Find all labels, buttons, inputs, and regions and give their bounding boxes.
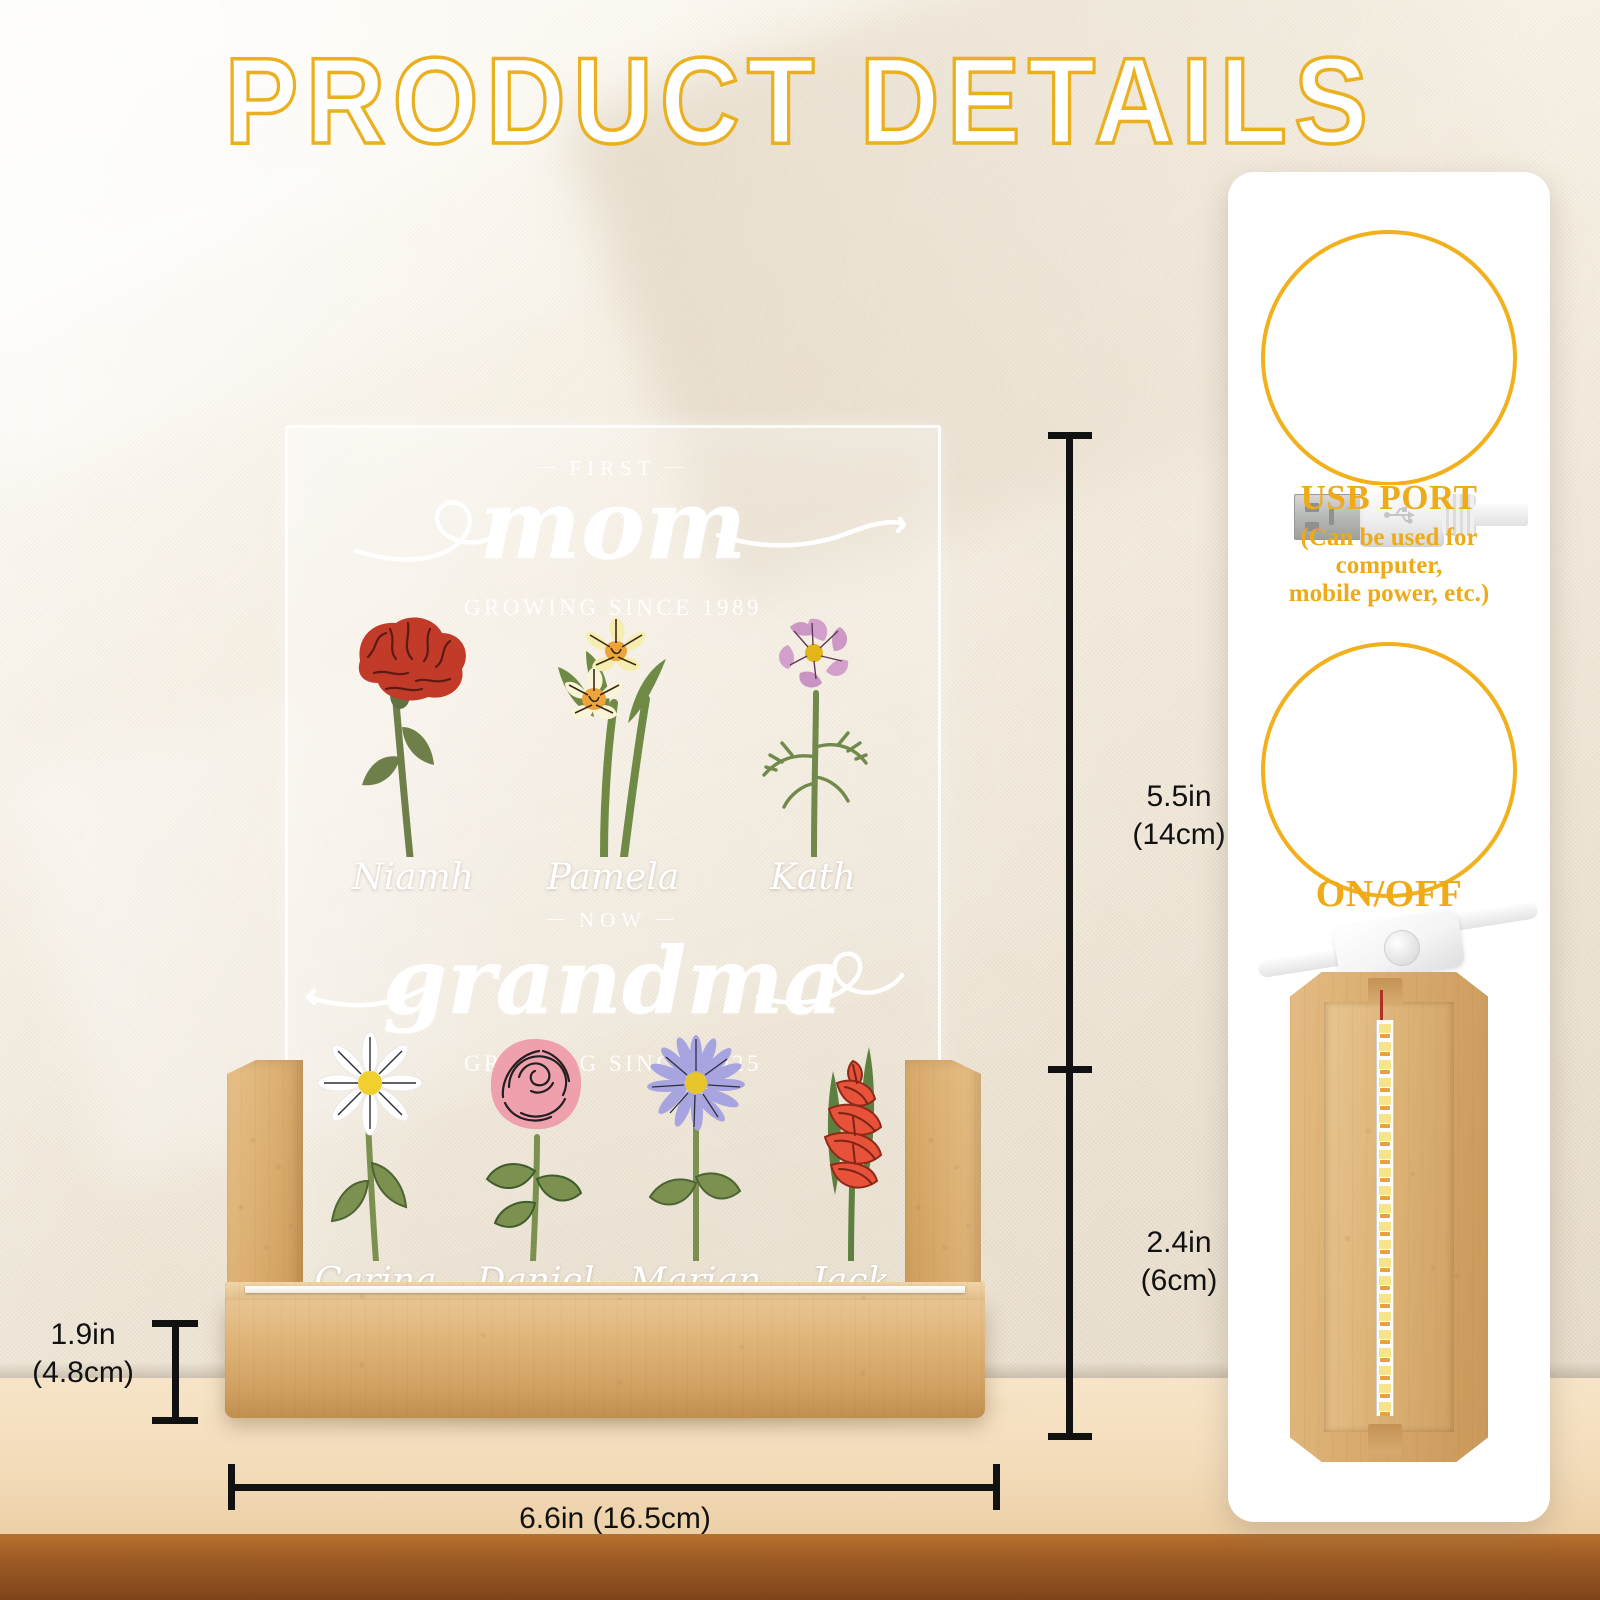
led-solder-pad (1380, 1070, 1390, 1074)
depth-inches: 1.9in (8, 1316, 158, 1354)
led-solder-pad (1380, 1232, 1390, 1236)
led-solder-pad (1380, 1358, 1390, 1362)
flower-item-daffodil: Pamela (528, 607, 698, 898)
wooden-base-led-strip-icon (1290, 972, 1488, 1462)
led-solder-pad (1380, 1412, 1390, 1416)
width-ruler-cap-right (993, 1464, 1000, 1510)
on-off-title: ON/OFF (1228, 872, 1550, 916)
led-solder-pad (1380, 1160, 1390, 1164)
led-base-notch-bottom (1368, 1424, 1402, 1454)
mom-headline-block: —FIRST— mom GROWING SINCE 1989 (288, 456, 938, 621)
led-diode (1379, 1240, 1391, 1249)
height-ruler-line (1066, 432, 1073, 1440)
aster-icon (626, 1031, 766, 1261)
usb-port-subtitle-line3: mobile power, etc.) (1228, 580, 1550, 608)
led-diode (1379, 1258, 1391, 1267)
stand-base (225, 1300, 985, 1418)
width-ruler-cap-left (228, 1464, 235, 1510)
led-power-wire (1380, 990, 1383, 1024)
acrylic-plaque: —FIRST— mom GROWING SINCE 1989 (285, 425, 941, 1361)
switch-circle-frame (1261, 642, 1517, 898)
bottom-flower-row: Carina (298, 1052, 928, 1302)
led-solder-pad (1380, 1124, 1390, 1128)
info-card: USB PORT (Can be used for computer, mobi… (1228, 172, 1550, 1522)
grandma-script-word: grandma (288, 935, 938, 1027)
led-diode (1379, 1114, 1391, 1123)
depth-ruler-cap-bottom (152, 1417, 198, 1424)
gladiolus-icon (781, 1031, 921, 1261)
led-solder-pad (1380, 1196, 1390, 1200)
led-strip (1376, 1020, 1394, 1416)
led-diode (1379, 1132, 1391, 1141)
led-diode (1379, 1366, 1391, 1375)
led-solder-pad (1380, 1106, 1390, 1110)
daisy-icon (306, 1031, 446, 1261)
wood-grain (225, 1300, 985, 1418)
mom-script-word: mom (288, 477, 938, 573)
depth-ruler-cap-top (152, 1320, 198, 1327)
led-diode (1379, 1312, 1391, 1321)
flower-name-label: Pamela (547, 857, 680, 898)
led-diode (1379, 1348, 1391, 1357)
height-ruler-cap-bottom (1048, 1433, 1092, 1440)
led-solder-pad (1380, 1250, 1390, 1254)
flower-item-carnation: Niamh (338, 607, 488, 898)
led-solder-pad (1380, 1052, 1390, 1056)
led-solder-pad (1380, 1142, 1390, 1146)
led-diode (1379, 1042, 1391, 1051)
usb-port-subtitle-line2: computer, (1228, 552, 1550, 580)
rose-icon (461, 1031, 611, 1261)
led-solder-pad (1380, 1268, 1390, 1272)
led-solder-pad (1380, 1376, 1390, 1380)
led-diode (1379, 1204, 1391, 1213)
led-solder-pad (1380, 1340, 1390, 1344)
led-diode (1379, 1168, 1391, 1177)
usb-port-subtitle-line1: (Can be used for (1228, 524, 1550, 552)
flower-name-label: Kath (770, 857, 856, 898)
cosmos-icon (738, 607, 888, 857)
led-diode (1379, 1276, 1391, 1285)
led-solder-pad (1380, 1034, 1390, 1038)
flower-item-cosmos: Kath (738, 607, 888, 898)
led-solder-pad (1380, 1286, 1390, 1290)
usb-port-title: USB PORT (1228, 478, 1550, 518)
led-solder-pad (1380, 1322, 1390, 1326)
depth-dimension-label: 1.9in (4.8cm) (8, 1316, 158, 1393)
depth-cm: (4.8cm) (8, 1354, 158, 1392)
product-assembly: —FIRST— mom GROWING SINCE 1989 (205, 420, 1025, 1480)
led-solder-pad (1380, 1088, 1390, 1092)
led-diode (1379, 1024, 1391, 1033)
stand-groove (245, 1286, 965, 1293)
flower-item-rose: Daniel (461, 1031, 611, 1302)
page-title: PRODUCT DETAILS (0, 32, 1600, 172)
table-edge (0, 1534, 1600, 1600)
flower-item-aster: Marian (626, 1031, 766, 1302)
led-base-notch-top (1368, 978, 1402, 1004)
flower-name-label: Niamh (352, 857, 474, 898)
height-ruler-cap-top (1048, 432, 1092, 439)
led-diode (1379, 1078, 1391, 1087)
width-dimension-label: 6.6in (16.5cm) (400, 1500, 830, 1538)
kicker-dash-left: — (539, 908, 579, 929)
flower-item-daisy: Carina (306, 1031, 446, 1302)
led-solder-pad (1380, 1178, 1390, 1182)
led-diode (1379, 1060, 1391, 1069)
led-solder-pad (1380, 1214, 1390, 1218)
flower-item-gladiolus: Jack (781, 1031, 921, 1302)
led-diode (1379, 1402, 1391, 1411)
led-diode (1379, 1222, 1391, 1231)
base-height-ruler-cap (1048, 1066, 1092, 1073)
top-flower-row: Niamh (318, 608, 908, 898)
led-diode (1379, 1294, 1391, 1303)
led-solder-pad (1380, 1304, 1390, 1308)
carnation-icon (338, 607, 488, 857)
led-diode (1379, 1186, 1391, 1195)
usb-circle-frame (1261, 230, 1517, 486)
led-diode (1379, 1330, 1391, 1339)
led-diode (1379, 1150, 1391, 1159)
depth-ruler-line (172, 1320, 179, 1424)
width-ruler-line (228, 1484, 1000, 1491)
daffodil-icon (528, 607, 698, 857)
led-solder-pad (1380, 1394, 1390, 1398)
led-diode (1379, 1096, 1391, 1105)
kicker-dash-right: — (647, 908, 687, 929)
led-diode (1379, 1384, 1391, 1393)
